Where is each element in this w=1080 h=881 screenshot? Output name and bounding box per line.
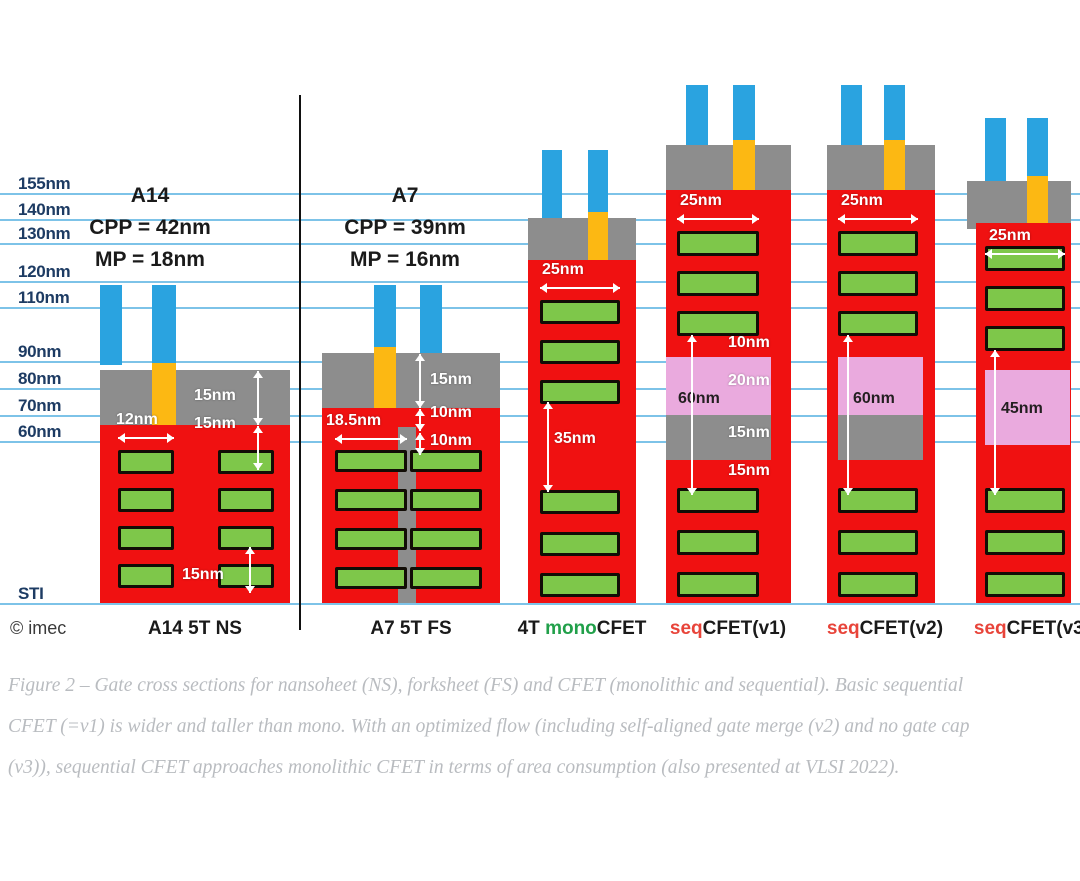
arrow-a14-cap bbox=[252, 371, 264, 425]
bottom-label-part: CFET(v1) bbox=[703, 618, 786, 639]
imec-credit: © imec bbox=[10, 618, 66, 639]
nanosheet bbox=[218, 450, 274, 474]
device-seq-cfet-v2[interactable]: 25nm 60nm bbox=[827, 85, 935, 605]
axis-tick-label: 110nm bbox=[18, 288, 69, 308]
nanosheet bbox=[335, 450, 407, 472]
nanosheet bbox=[677, 530, 759, 555]
nanosheet bbox=[985, 286, 1065, 311]
nanosheet bbox=[410, 528, 482, 550]
arrow-v3-total bbox=[989, 350, 1001, 495]
gate-cap bbox=[967, 181, 1071, 229]
arrow-a14-pitch bbox=[244, 547, 256, 593]
bottom-label-a14-5t-ns: A14 5T NS bbox=[110, 618, 280, 640]
device-seq-cfet-v3[interactable]: 25nm 45nm bbox=[963, 118, 1071, 605]
anno-v3-c: 45nm bbox=[1001, 401, 1043, 417]
gate-contact bbox=[884, 140, 905, 197]
nanosheet bbox=[540, 490, 620, 514]
arrow-mono-gap bbox=[542, 402, 554, 492]
bottom-label-part: mono bbox=[545, 618, 597, 639]
nanosheet bbox=[410, 567, 482, 589]
arrow-v2-total bbox=[842, 335, 854, 495]
nanosheet bbox=[118, 450, 174, 474]
anno-mono-width: 25nm bbox=[542, 262, 584, 278]
anno-v1-d: 15nm bbox=[728, 425, 770, 441]
anno-v2-c: 60nm bbox=[853, 391, 895, 407]
nanosheet bbox=[677, 311, 759, 336]
section-divider bbox=[299, 95, 301, 630]
arrow-a7-t1 bbox=[414, 409, 426, 431]
bottom-label-part: CFET(v2) bbox=[860, 618, 943, 639]
nanosheet bbox=[335, 489, 407, 511]
arrow-mono-width bbox=[540, 282, 620, 294]
gate-cap bbox=[322, 353, 500, 408]
bottom-label-seq-cfet-v2: seqCFET(v2) bbox=[805, 618, 965, 640]
nanosheet bbox=[335, 567, 407, 589]
axis-tick-label: 60nm bbox=[18, 422, 61, 442]
anno-a14-pitch: 15nm bbox=[182, 567, 224, 583]
nanosheet bbox=[335, 528, 407, 550]
anno-v1-c: 60nm bbox=[678, 391, 720, 407]
nanosheet bbox=[218, 488, 274, 512]
arrow-a14-top bbox=[252, 426, 264, 470]
anno-v1-width: 25nm bbox=[680, 193, 722, 209]
nanosheet bbox=[677, 231, 759, 256]
axis-tick-label: 90nm bbox=[18, 342, 61, 362]
bottom-label-part: CFET(v3) bbox=[1007, 618, 1080, 639]
axis-tick-label: STI bbox=[18, 584, 44, 604]
anno-v2-width: 25nm bbox=[841, 193, 883, 209]
nanosheet bbox=[985, 572, 1065, 597]
arrow-v3-width bbox=[985, 248, 1065, 260]
anno-v3-width: 25nm bbox=[989, 228, 1031, 244]
anno-a14-top: 15nm bbox=[194, 416, 236, 432]
m0-line-right bbox=[420, 285, 442, 358]
axis-tick-label: 120nm bbox=[18, 262, 70, 282]
nanosheet bbox=[540, 300, 620, 324]
arrow-v1-total bbox=[686, 335, 698, 495]
axis-tick-label: 140nm bbox=[18, 200, 70, 220]
bottom-label-part: CFET bbox=[597, 618, 647, 639]
gate-contact bbox=[733, 140, 755, 197]
device-seq-cfet-v1[interactable]: 25nm 10nm 20nm 60nm 15nm 15nm bbox=[666, 85, 791, 605]
nanosheet bbox=[838, 530, 918, 555]
gate-contact bbox=[374, 347, 396, 408]
bottom-label-a7-5t-fs: A7 5T FS bbox=[326, 618, 496, 640]
nanosheet bbox=[838, 311, 918, 336]
nanosheet bbox=[985, 530, 1065, 555]
nanosheet bbox=[677, 271, 759, 296]
arrow-a7-width bbox=[335, 433, 407, 445]
bottom-label-seq-cfet-v1: seqCFET(v1) bbox=[648, 618, 808, 640]
bottom-label-seq-cfet-v3: seqCFET(v3) bbox=[952, 618, 1080, 640]
axis-tick-label: 155nm bbox=[18, 174, 70, 194]
axis-tick-label: 80nm bbox=[18, 369, 61, 389]
nanosheet bbox=[838, 271, 918, 296]
m0-line-left bbox=[841, 85, 862, 150]
nanosheet bbox=[410, 489, 482, 511]
m0-line-left bbox=[985, 118, 1006, 186]
heading-a7-line3: MP = 16nm bbox=[320, 244, 490, 276]
arrow-a7-t2 bbox=[414, 433, 426, 455]
m0-line-right bbox=[152, 285, 176, 365]
heading-a7-line1: A7 bbox=[320, 180, 490, 212]
m0-line-left bbox=[100, 285, 122, 365]
nanosheet bbox=[677, 572, 759, 597]
nanosheet bbox=[540, 532, 620, 556]
anno-a7-t1: 10nm bbox=[430, 405, 472, 421]
bottom-label-part: 4T bbox=[518, 618, 545, 639]
device-a14-5t-ns[interactable]: 12nm 15nm 15nm 15nm bbox=[100, 285, 290, 605]
arrow-a14-width bbox=[118, 432, 174, 444]
anno-mono-gap: 35nm bbox=[554, 431, 596, 447]
nanosheet bbox=[985, 326, 1065, 351]
nanosheet bbox=[838, 231, 918, 256]
device-4t-mono-cfet[interactable]: 25nm 35nm bbox=[528, 150, 636, 605]
anno-a7-width: 18.5nm bbox=[326, 413, 381, 429]
anno-a14-cap: 15nm bbox=[194, 388, 236, 404]
bottom-label-part: seq bbox=[827, 618, 860, 639]
anno-a14-width: 12nm bbox=[116, 412, 158, 428]
nanosheet bbox=[118, 488, 174, 512]
figure-caption: Figure 2 – Gate cross sections for nanso… bbox=[8, 665, 1008, 788]
device-a7-5t-fs[interactable]: 18.5nm 15nm 10nm 10nm bbox=[322, 285, 500, 605]
nanosheet bbox=[540, 340, 620, 364]
anno-v1-b: 20nm bbox=[728, 373, 770, 389]
anno-v1-e: 15nm bbox=[728, 463, 770, 479]
heading-a14-line2: CPP = 42nm bbox=[65, 212, 235, 244]
nanosheet bbox=[540, 380, 620, 404]
nanosheet bbox=[118, 526, 174, 550]
bottom-label-part: seq bbox=[670, 618, 703, 639]
arrow-a7-cap bbox=[414, 354, 426, 408]
heading-a14-line3: MP = 18nm bbox=[65, 244, 235, 276]
arrow-v2-width bbox=[838, 213, 918, 225]
axis-tick-label: 70nm bbox=[18, 396, 61, 416]
axis-tick-label: 130nm bbox=[18, 224, 70, 244]
figure-canvas: 155nm140nm130nm120nm110nm90nm80nm70nm60n… bbox=[0, 0, 1080, 660]
nanosheet bbox=[838, 572, 918, 597]
anno-a7-cap: 15nm bbox=[430, 372, 472, 388]
bottom-label-part: seq bbox=[974, 618, 1007, 639]
arrow-v1-width bbox=[677, 213, 759, 225]
heading-a14-line1: A14 bbox=[65, 180, 235, 212]
anno-v1-a: 10nm bbox=[728, 335, 770, 351]
anno-a7-t2: 10nm bbox=[430, 433, 472, 449]
m0-line-left bbox=[542, 150, 562, 222]
heading-a7-line2: CPP = 39nm bbox=[320, 212, 490, 244]
gate-contact bbox=[1027, 176, 1048, 229]
bottom-label-4t-mono-cfet: 4T monoCFET bbox=[492, 618, 672, 640]
heading-a7: A7 CPP = 39nm MP = 16nm bbox=[320, 180, 490, 276]
heading-a14: A14 CPP = 42nm MP = 18nm bbox=[65, 180, 235, 276]
nanosheet bbox=[540, 573, 620, 597]
nanosheet bbox=[118, 564, 174, 588]
m0-line-left bbox=[686, 85, 708, 150]
